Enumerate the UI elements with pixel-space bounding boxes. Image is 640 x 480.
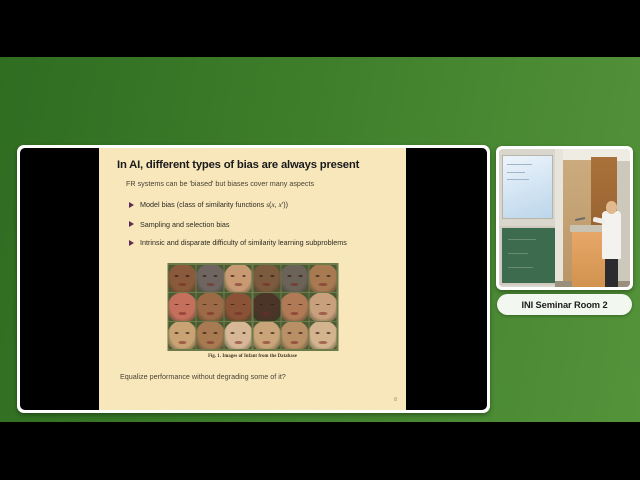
bullet-triangle-icon: [129, 221, 134, 227]
bullet-triangle-icon: [129, 240, 134, 246]
letterbox-bottom: [0, 422, 640, 480]
room-label-badge: INI Seminar Room 2: [497, 294, 632, 315]
presentation-slide-card[interactable]: In AI, different types of bias are alway…: [17, 145, 490, 413]
projection-screen: [502, 155, 554, 219]
bullet-item: Model bias (class of similarity function…: [129, 200, 404, 210]
lectern: [572, 229, 606, 287]
slide-page-number: 8: [394, 397, 397, 403]
infant-face-thumbnail: [253, 293, 280, 321]
infant-face-thumbnail: [225, 322, 252, 350]
bullet-text: Model bias (class of similarity function…: [140, 200, 288, 210]
infant-face-thumbnail: [281, 322, 308, 350]
infant-face-thumbnail: [225, 293, 252, 321]
figure-caption: Fig. 1. Images of Infant from the Databa…: [167, 354, 338, 359]
bullet-item: Sampling and selection bias: [129, 220, 404, 229]
infant-face-thumbnail: [253, 265, 280, 293]
speaker-legs: [605, 257, 618, 287]
infant-face-thumbnail: [281, 265, 308, 293]
speaker-head: [606, 201, 616, 213]
bullet-triangle-icon: [129, 202, 134, 208]
chalkboard: [500, 226, 556, 285]
slide-pillarbox: In AI, different types of bias are alway…: [20, 148, 487, 410]
bullet-text: Sampling and selection bias: [140, 220, 230, 229]
infant-face-grid: [167, 263, 338, 351]
slide-content: In AI, different types of bias are alway…: [99, 148, 406, 410]
room-label-text: INI Seminar Room 2: [521, 300, 607, 310]
video-stream-stage: In AI, different types of bias are alway…: [0, 0, 640, 480]
infant-face-thumbnail: [309, 293, 336, 321]
speaker-video-card[interactable]: [496, 146, 633, 290]
infant-face-thumbnail: [197, 265, 224, 293]
infant-face-thumbnail: [197, 322, 224, 350]
infant-face-thumbnail: [309, 265, 336, 293]
slide-title: In AI, different types of bias are alway…: [117, 159, 397, 171]
slide-bullet-list: Model bias (class of similarity function…: [129, 200, 404, 257]
infant-face-thumbnail: [197, 293, 224, 321]
stream-background: In AI, different types of bias are alway…: [0, 57, 640, 422]
infant-face-thumbnail: [169, 322, 196, 350]
bullet-item: Intrinsic and disparate difficulty of si…: [129, 238, 404, 247]
infant-face-thumbnail: [281, 293, 308, 321]
infant-face-thumbnail: [253, 322, 280, 350]
slide-figure: Fig. 1. Images of Infant from the Databa…: [167, 263, 338, 359]
infant-face-thumbnail: [169, 265, 196, 293]
speaker-video-frame: [499, 149, 630, 287]
slide-closing-question: Equalize performance without degrading s…: [120, 372, 390, 381]
letterbox-top: [0, 0, 640, 57]
infant-face-thumbnail: [225, 265, 252, 293]
infant-face-thumbnail: [169, 293, 196, 321]
bullet-text: Intrinsic and disparate difficulty of si…: [140, 238, 347, 247]
room-pillar: [555, 149, 563, 287]
slide-subtitle: FR systems can be 'biased' but biases co…: [126, 180, 398, 189]
infant-face-thumbnail: [309, 322, 336, 350]
